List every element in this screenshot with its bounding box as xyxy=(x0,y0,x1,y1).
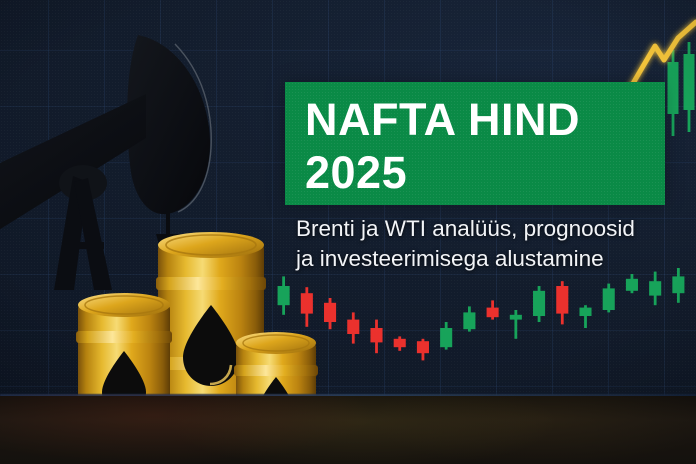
page-subtitle: Brenti ja WTI analüüs, prognoosid ja inv… xyxy=(296,214,688,274)
floor-reflection-glow xyxy=(0,394,696,464)
page-title: NAFTA HIND 2025 xyxy=(305,93,665,199)
poster-canvas: NAFTA HIND 2025 Brenti ja WTI analüüs, p… xyxy=(0,0,696,464)
